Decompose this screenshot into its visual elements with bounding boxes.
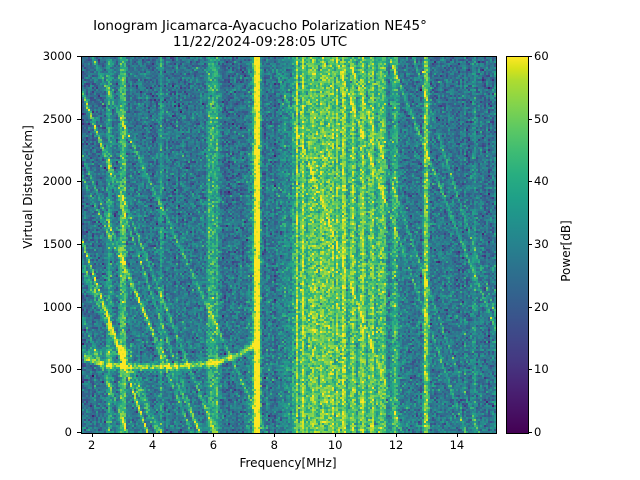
y-axis-label: Virtual Distance[km] — [21, 97, 35, 277]
y-tick-mark — [77, 119, 81, 120]
y-tick-mark — [77, 307, 81, 308]
x-tick-mark — [92, 433, 93, 437]
x-tick-mark — [396, 433, 397, 437]
x-tick-label: 4 — [133, 438, 173, 452]
colorbar-tick-label: 60 — [534, 49, 549, 63]
ionogram-figure: Ionogram Jicamarca-Ayacucho Polarization… — [0, 0, 640, 480]
y-tick-mark — [77, 369, 81, 370]
colorbar-tick-label: 50 — [534, 112, 549, 126]
x-axis-label: Frequency[MHz] — [81, 456, 495, 470]
x-tick-mark — [457, 433, 458, 437]
colorbar-tick-mark — [528, 244, 532, 245]
colorbar-tick-mark — [528, 119, 532, 120]
y-tick-mark — [77, 244, 81, 245]
x-tick-mark — [274, 433, 275, 437]
colorbar — [506, 56, 529, 434]
colorbar-tick-mark — [528, 181, 532, 182]
x-tick-label: 8 — [254, 438, 294, 452]
x-tick-mark — [213, 433, 214, 437]
figure-title: Ionogram Jicamarca-Ayacucho Polarization… — [0, 18, 520, 50]
y-tick-label: 1000 — [26, 300, 72, 314]
colorbar-tick-mark — [528, 307, 532, 308]
plot-area — [81, 56, 497, 434]
colorbar-tick-label: 40 — [534, 174, 549, 188]
x-tick-label: 6 — [193, 438, 233, 452]
y-tick-label: 0 — [26, 425, 72, 439]
x-tick-label: 10 — [315, 438, 355, 452]
x-tick-label: 12 — [376, 438, 416, 452]
y-tick-label: 500 — [26, 362, 72, 376]
y-tick-mark — [77, 56, 81, 57]
colorbar-tick-mark — [528, 56, 532, 57]
colorbar-tick-label: 10 — [534, 362, 549, 376]
colorbar-tick-label: 30 — [534, 237, 549, 251]
colorbar-tick-mark — [528, 369, 532, 370]
y-tick-mark — [77, 181, 81, 182]
ionogram-heatmap — [82, 57, 496, 433]
colorbar-tick-label: 20 — [534, 300, 549, 314]
x-tick-mark — [335, 433, 336, 437]
x-tick-mark — [153, 433, 154, 437]
x-tick-label: 2 — [72, 438, 112, 452]
colorbar-label: Power[dB] — [559, 191, 573, 311]
y-tick-label: 3000 — [26, 49, 72, 63]
x-tick-label: 14 — [437, 438, 477, 452]
colorbar-tick-label: 0 — [534, 425, 541, 439]
colorbar-tick-mark — [528, 432, 532, 433]
y-tick-mark — [77, 432, 81, 433]
